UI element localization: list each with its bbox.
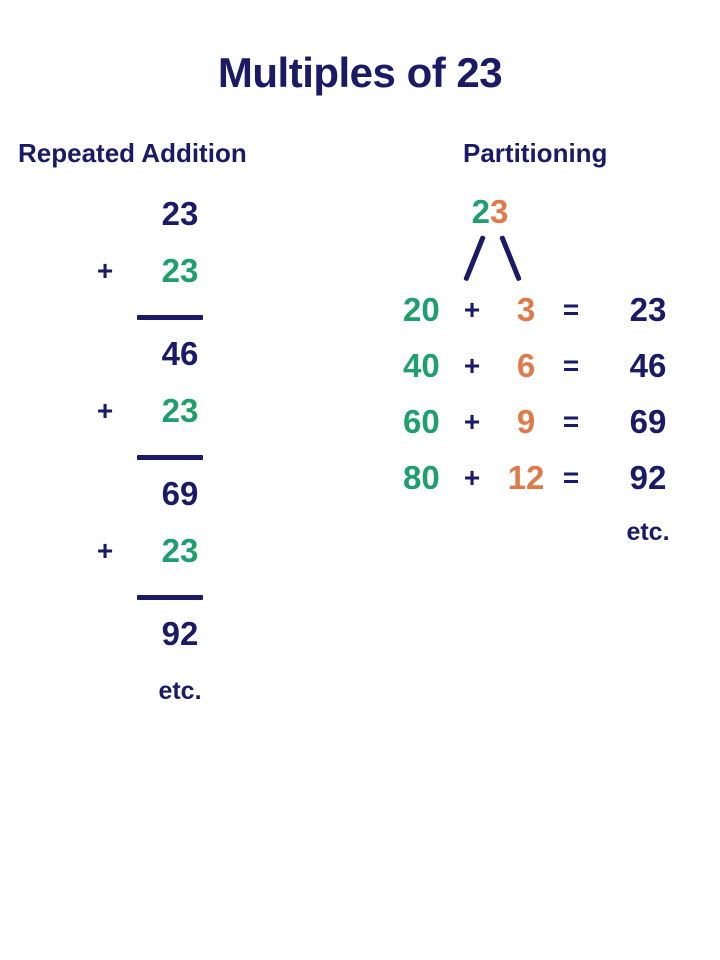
plus-operator: + xyxy=(457,288,487,332)
equals-operator: = xyxy=(555,288,587,332)
addition-row: 69 xyxy=(80,472,330,529)
partition-result: 69 xyxy=(610,400,686,444)
equals-operator: = xyxy=(555,344,587,388)
partition-tens: 20 xyxy=(403,288,465,332)
addition-rule-row xyxy=(80,446,330,472)
addition-addend: 23 xyxy=(140,529,220,573)
addition-row: 92 xyxy=(80,612,330,669)
addition-row: 46 xyxy=(80,332,330,389)
column-header-partitioning: Partitioning xyxy=(463,140,607,166)
addition-row: + 23 xyxy=(80,529,330,586)
equals-operator: = xyxy=(555,400,587,444)
sum-rule xyxy=(137,595,203,600)
plus-operator: + xyxy=(88,249,122,293)
repeated-addition-column: 23 + 23 46 + 23 69 + 23 92 xyxy=(80,192,330,726)
addition-row: + 23 xyxy=(80,249,330,306)
number-bond-tens-digit: 2 xyxy=(472,193,490,230)
etc-label: etc. xyxy=(610,510,686,554)
partition-units: 12 xyxy=(491,456,561,500)
addition-addend: 23 xyxy=(140,249,220,293)
partition-tens: 80 xyxy=(403,456,465,500)
plus-operator: + xyxy=(88,529,122,573)
addition-etc-row: etc. xyxy=(80,669,330,726)
branch-right-icon xyxy=(499,235,522,281)
partition-rows: 20 + 3 = 23 40 + 6 = 46 60 + 9 = 69 xyxy=(395,288,705,512)
number-bond-branches xyxy=(395,234,585,286)
number-bond-units-digit: 3 xyxy=(490,193,508,230)
worksheet-page: Multiples of 23 Repeated Addition Partit… xyxy=(0,0,720,960)
partition-units: 9 xyxy=(491,400,561,444)
sum-rule xyxy=(137,455,203,460)
partition-result: 92 xyxy=(610,456,686,500)
sum-rule xyxy=(137,315,203,320)
partition-tens: 40 xyxy=(403,344,465,388)
plus-operator: + xyxy=(457,400,487,444)
plus-operator: + xyxy=(88,389,122,433)
partition-units: 6 xyxy=(491,344,561,388)
partition-row: 60 + 9 = 69 xyxy=(395,400,705,456)
partition-result: 46 xyxy=(610,344,686,388)
addition-value: 23 xyxy=(140,192,220,236)
addition-value: 69 xyxy=(140,472,220,516)
branch-left-icon xyxy=(463,235,486,281)
addition-addend: 23 xyxy=(140,389,220,433)
partition-row: 40 + 6 = 46 xyxy=(395,344,705,400)
partition-row: 80 + 12 = 92 xyxy=(395,456,705,512)
partition-tens: 60 xyxy=(403,400,465,444)
addition-value: 46 xyxy=(140,332,220,376)
addition-rule-row xyxy=(80,586,330,612)
addition-row: 23 xyxy=(80,192,330,249)
number-bond-whole: 23 xyxy=(395,190,585,234)
plus-operator: + xyxy=(457,344,487,388)
addition-value: 92 xyxy=(140,612,220,656)
equals-operator: = xyxy=(555,456,587,500)
addition-row: + 23 xyxy=(80,389,330,446)
plus-operator: + xyxy=(457,456,487,500)
addition-rule-row xyxy=(80,306,330,332)
etc-label: etc. xyxy=(140,669,220,713)
page-title: Multiples of 23 xyxy=(0,52,720,94)
partition-units: 3 xyxy=(491,288,561,332)
partition-row: 20 + 3 = 23 xyxy=(395,288,705,344)
column-header-repeated-addition: Repeated Addition xyxy=(18,140,247,166)
partition-result: 23 xyxy=(610,288,686,332)
